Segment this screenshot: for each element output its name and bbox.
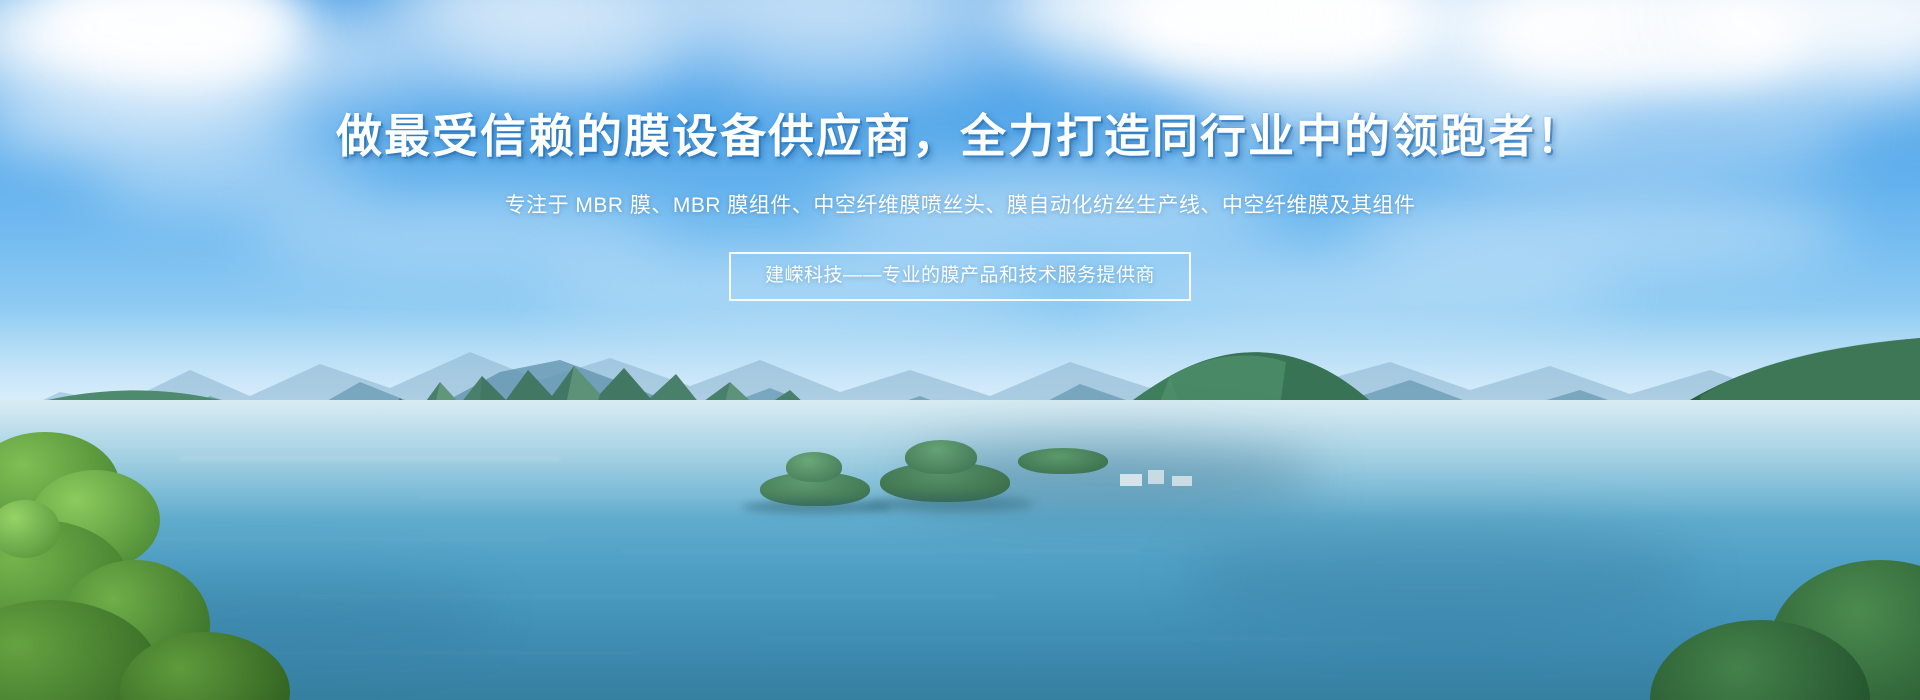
hero-tagline-box: 建嵘科技——专业的膜产品和技术服务提供商 [729, 252, 1191, 302]
hero-banner: 做最受信赖的膜设备供应商，全力打造同行业中的领跑者！ 专注于 MBR 膜、MBR… [0, 0, 1920, 700]
hero-copy: 做最受信赖的膜设备供应商，全力打造同行业中的领跑者！ 专注于 MBR 膜、MBR… [0, 0, 1920, 301]
page-title: 做最受信赖的膜设备供应商，全力打造同行业中的领跑者！ [0, 0, 1920, 164]
hero-tagline-wrapper: 建嵘科技——专业的膜产品和技术服务提供商 [0, 222, 1920, 302]
hero-subtitle: 专注于 MBR 膜、MBR 膜组件、中空纤维膜喷丝头、膜自动化纺丝生产线、中空纤… [0, 164, 1920, 222]
